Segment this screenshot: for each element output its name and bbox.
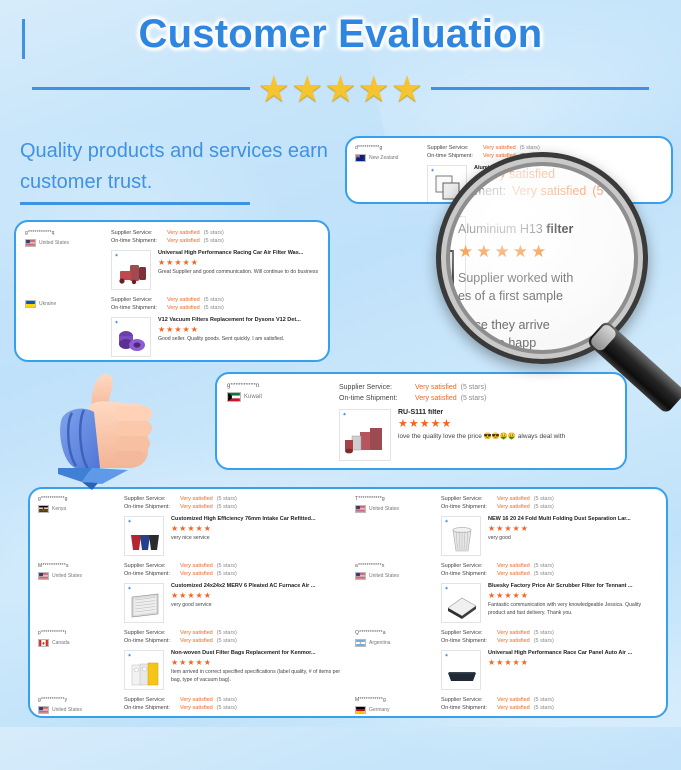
product-rating-stars: ★★★★★ (171, 658, 341, 667)
review-column-right: T***********g United States Supplier Se (355, 495, 658, 710)
review-item: M***********g Germany Supplier Service: … (355, 696, 658, 718)
metric-stars: (5 stars) (461, 393, 487, 404)
product-thumbnail[interactable]: ◉ (124, 717, 164, 718)
buyer-info: M***********s United States (38, 562, 124, 580)
metric-label: On-time Shipment: (111, 304, 163, 312)
product-block: ◉ RU-S111 filter ★★★★★ love the quality … (339, 409, 615, 461)
country-name: Germany (369, 707, 390, 713)
metric-supplier-service: Supplier Service: Very satisfied (5 star… (441, 495, 658, 503)
product-title[interactable]: NEW 16 20 24 Fold Multi Folding Dust Sep… (488, 516, 658, 522)
brand-logo-icon: ◉ (431, 168, 434, 172)
product-info: Customized 24x24x2 MERV 6 Pleated AC Fur… (171, 583, 341, 623)
brand-logo-icon: ◉ (115, 253, 118, 257)
brand-logo-icon: ◉ (445, 519, 448, 523)
product-rating-stars: ★★★★★ (171, 524, 341, 533)
product-thumbnail[interactable]: ◉ (111, 317, 151, 357)
review-body: Supplier Service: Very satisfied (5 star… (441, 495, 658, 556)
buyer-country: Argentina (355, 639, 441, 647)
country-name: Kenya (52, 506, 66, 512)
flag-icon (25, 300, 36, 308)
product-thumbnail[interactable]: ◉ (441, 650, 481, 690)
metric-label: Supplier Service: (111, 296, 163, 304)
country-name: Argentina (369, 640, 390, 646)
metric-label: Supplier Service: (124, 562, 176, 570)
metric-stars: (5 stars) (217, 562, 237, 570)
metric-value: Very satisfied (180, 637, 213, 645)
review-card-grid[interactable]: g***********g Kenya Supplier Service: Ve… (28, 487, 668, 718)
metric-stars: (5 stars) (217, 503, 237, 511)
review-grid: g***********g Kenya Supplier Service: Ve… (38, 495, 658, 710)
buyer-country: United States (38, 572, 124, 580)
country-name: United States (52, 707, 82, 713)
metric-stars: (5 stars) (204, 229, 224, 237)
review-item: M***********s United States Supplier Se (38, 562, 341, 623)
review-comment: very nice service (171, 535, 341, 543)
metric-stars: (5 stars) (520, 144, 540, 152)
country-name: Kuwait (244, 394, 262, 400)
buyer-country: New Zealand (355, 154, 427, 162)
review-column-left: g***********g Kenya Supplier Service: Ve… (38, 495, 341, 710)
metric-label: Supplier Service: (427, 144, 479, 152)
metric-stars: (5 stars) (534, 637, 554, 645)
metric-label: On-time Shipment: (124, 503, 176, 511)
metric-label: Supplier Service: (111, 229, 163, 237)
product-title[interactable]: V12 Vacuum Filters Replacement for Dyson… (158, 317, 319, 323)
product-info: NEW 16 20 24 Fold Multi Folding Dust Sep… (488, 516, 658, 556)
buyer-id: g***********g (38, 496, 124, 502)
metric-stars: (5 stars) (217, 637, 237, 645)
buyer-country: Canada (38, 639, 124, 647)
product-thumbnail[interactable]: ◉ (124, 583, 164, 623)
product-block: ◉ NEW 16 20 24 Fold Multi Folding Dust S… (441, 516, 658, 556)
metric-value: Very satisfied (180, 562, 213, 570)
product-title[interactable]: Universal High Performance Race Car Pane… (488, 650, 658, 656)
brand-logo-icon: ◉ (445, 586, 448, 590)
metric-value: Very satisfied (497, 495, 530, 503)
review-body: Supplier Service: Very satisfied (5 star… (441, 696, 658, 718)
review-item: Ukraine Supplier Service: Very satisfied… (25, 296, 319, 357)
country-name: Canada (52, 640, 70, 646)
buyer-id: p***********t (38, 630, 124, 636)
brand-logo-icon: ◉ (128, 653, 131, 657)
review-body: Supplier Service: Very satisfied (5 star… (441, 629, 658, 690)
country-name: Ukraine (39, 301, 56, 307)
product-info: Replacement Exhaust Filters for Windsor … (171, 717, 341, 718)
buyer-country: Germany (355, 706, 441, 714)
flag-icon (38, 505, 49, 513)
brand-logo-icon: ◉ (128, 519, 131, 523)
country-name: United States (369, 573, 399, 579)
metric-on-time-shipment: On-time Shipment: Very satisfied (5 star… (339, 393, 615, 404)
header-stars: ★ ★ ★ ★ ★ (250, 71, 431, 107)
metric-stars: (5 stars) (217, 495, 237, 503)
metric-stars: (5 stars) (534, 495, 554, 503)
review-item: g***********g Kenya Supplier Service: Ve… (38, 495, 341, 556)
product-rating-stars: ★★★★★ (398, 418, 615, 430)
review-item: g***********y United States Supplier Se (38, 696, 341, 718)
buyer-info: p***********t Canada (38, 629, 124, 647)
metric-stars: (5 stars) (217, 570, 237, 578)
flag-icon (38, 639, 49, 647)
review-item: g***********q United States Supplier Ser… (25, 229, 319, 290)
star-icon: ★ (324, 71, 356, 107)
metric-stars: (5 stars) (534, 503, 554, 511)
metric-stars: (5 stars) (204, 237, 224, 245)
product-thumbnail[interactable]: ◉ (339, 409, 391, 461)
metric-on-time-shipment: On-time Shipment: Very satisfied (5 star… (124, 570, 341, 578)
buyer-country: United States (25, 239, 111, 247)
metric-supplier-service: Supplier Service: Very satisfied (5 star… (124, 696, 341, 704)
metric-value: Very satisfied (167, 229, 200, 237)
thumbs-up-icon (52, 366, 188, 486)
buyer-country: United States (38, 706, 124, 714)
country-name: United States (369, 506, 399, 512)
product-title[interactable]: Customized 24x24x2 MERV 6 Pleated AC Fur… (171, 583, 341, 589)
flag-icon (355, 706, 366, 714)
country-name: United States (52, 573, 82, 579)
buyer-id: T***********g (355, 496, 441, 502)
tagline-underline (20, 202, 250, 205)
metric-label: On-time Shipment: (427, 152, 479, 160)
product-thumbnail[interactable]: ◉ (441, 717, 481, 718)
review-comment: very good (488, 535, 658, 543)
metric-stars: (5 stars) (204, 296, 224, 304)
country-name: United States (39, 240, 69, 246)
metric-label: Supplier Service: (441, 562, 493, 570)
review-body: Supplier Service: Very satisfied (5 star… (124, 562, 341, 623)
metric-supplier-service: Supplier Service: Very satisfied (5 star… (124, 629, 341, 637)
filter-set-icon (340, 410, 391, 461)
buyer-id: g***********y (38, 697, 124, 703)
buyer-info: Ukraine (25, 296, 111, 308)
review-item: Q***********a Argentina Supplier Service… (355, 629, 658, 690)
flag-icon (355, 505, 366, 513)
metric-stars: (5 stars) (534, 629, 554, 637)
product-block: ◉ Universal High Performance Race Car Pa… (441, 650, 658, 690)
metric-value: Very satisfied (167, 296, 200, 304)
product-info: Non-woven Dust Filter Bags Replacement f… (171, 650, 341, 690)
metric-on-time-shipment: On-time Shipment: Very satisfied (5 star… (441, 503, 658, 511)
metric-on-time-shipment: On-time Shipment: Very satisfied (5 star… (441, 637, 658, 645)
flag-icon (355, 639, 366, 647)
review-body: Supplier Service: Very satisfied (5 star… (124, 495, 341, 556)
page-header: Customer Evaluation ★ ★ ★ ★ ★ (0, 0, 681, 122)
brand-logo-icon: ◉ (115, 320, 118, 324)
metric-stars: (5 stars) (534, 704, 554, 712)
product-info: Universal High Performance Race Car Pane… (488, 650, 658, 690)
metric-on-time-shipment: On-time Shipment: Very satisfied (5 star… (441, 704, 658, 712)
product-info: Universal High Performance Racing Car Ai… (158, 250, 319, 290)
metric-label: On-time Shipment: (441, 570, 493, 578)
buyer-country: Kenya (38, 505, 124, 513)
review-comment: love the quality love the price 😎😎🤑🤑 alw… (398, 432, 615, 441)
metric-on-time-shipment: On-time Shipment: Very satisfied (5 star… (111, 237, 319, 245)
buyer-id: g***********q (25, 230, 111, 236)
metric-label: Supplier Service: (124, 629, 176, 637)
buyer-info: M***********g Germany (355, 696, 441, 714)
product-block: ◉ Replacement Exhaust Filters for Windso… (124, 717, 341, 718)
buyer-info: g***********g Kenya (38, 495, 124, 513)
brand-logo-icon: ◉ (445, 653, 448, 657)
metric-value: Very satisfied (497, 704, 530, 712)
review-item: g**********n Kuwait Supplier Service: Ve… (227, 382, 615, 461)
review-comment: Fantastic communication with very knowle… (488, 602, 658, 617)
metric-label: On-time Shipment: (124, 704, 176, 712)
product-block: ◉ Washable V11 Filter Replac (441, 717, 658, 718)
divider-line-right (431, 87, 649, 90)
metric-supplier-service: Supplier Service: Very satisfied (5 star… (339, 382, 615, 393)
metric-supplier-service: Supplier Service: Very satisfied (5 star… (441, 562, 658, 570)
review-body: Supplier Service: Very satisfied (5 star… (111, 229, 319, 290)
metric-value: Very satisfied (497, 570, 530, 578)
metric-stars: (5 stars) (217, 704, 237, 712)
review-item: a***********n United States Supplier Se (355, 562, 658, 623)
metric-on-time-shipment: On-time Shipment: Very satisfied (5 star… (124, 503, 341, 511)
country-name: New Zealand (369, 155, 398, 161)
metric-label: On-time Shipment: (124, 570, 176, 578)
product-thumbnail[interactable]: ◉ (441, 516, 481, 556)
star-icon: ★ (258, 71, 290, 107)
metric-supplier-service: Supplier Service: Very satisfied (5 star… (427, 144, 663, 152)
product-title[interactable]: Washable V11 Filter Replacement for Dyso… (488, 717, 658, 718)
buyer-info: g***********y United States (38, 696, 124, 714)
metric-stars: (5 stars) (534, 562, 554, 570)
review-body: Supplier Service: Very satisfied (5 star… (124, 696, 341, 718)
metric-value: Very satisfied (497, 629, 530, 637)
metric-stars: (5 stars) (204, 304, 224, 312)
product-thumbnail[interactable]: ◉ (124, 650, 164, 690)
product-block: ◉ Customized 24x24x2 MERV 6 Pleated AC F… (124, 583, 341, 623)
metric-value: Very satisfied (180, 495, 213, 503)
buyer-country: United States (355, 505, 441, 513)
metric-value: Very satisfied (180, 629, 213, 637)
buyer-country: Kuwait (227, 392, 339, 402)
metric-stars: (5 stars) (461, 382, 487, 393)
product-rating-stars: ★★★★★ (158, 258, 319, 267)
metric-value: Very satisfied (483, 144, 516, 152)
metric-value: Very satisfied (415, 393, 457, 404)
flag-icon (227, 392, 241, 402)
review-card-kuwait[interactable]: g**********n Kuwait Supplier Service: Ve… (215, 372, 627, 470)
review-body: Supplier Service: Very satisfied (5 star… (441, 562, 658, 623)
metric-on-time-shipment: On-time Shipment: Very satisfied (5 star… (124, 704, 341, 712)
review-body: Supplier Service: Very satisfied (5 star… (124, 629, 341, 690)
metric-label: Supplier Service: (124, 495, 176, 503)
metric-value: Very satisfied (497, 503, 530, 511)
metric-on-time-shipment: On-time Shipment: Very satisfied (5 star… (111, 304, 319, 312)
flag-icon (38, 706, 49, 714)
metric-label: On-time Shipment: (441, 637, 493, 645)
buyer-id: M***********g (355, 697, 441, 703)
product-rating-stars: ★★★★★ (488, 591, 658, 600)
product-rating-stars: ★★★★★ (158, 325, 319, 334)
product-block: ◉ V12 Vacuum Filters Replacement for Dys… (111, 317, 319, 357)
product-info: V12 Vacuum Filters Replacement for Dyson… (158, 317, 319, 357)
metric-supplier-service: Supplier Service: Very satisfied (5 star… (111, 296, 319, 304)
metric-supplier-service: Supplier Service: Very satisfied (5 star… (111, 229, 319, 237)
review-body: Supplier Service: Very satisfied (5 star… (111, 296, 319, 357)
product-block: ◉ Customized High Efficiency 76mm Intake… (124, 516, 341, 556)
metric-on-time-shipment: On-time Shipment: Very satisfied (5 star… (124, 637, 341, 645)
metric-supplier-service: Supplier Service: Very satisfied (5 star… (441, 629, 658, 637)
brand-logo-icon: ◉ (343, 412, 346, 416)
header-star-divider: ★ ★ ★ ★ ★ (0, 70, 681, 106)
brand-logo-icon: ◉ (128, 586, 131, 590)
star-icon: ★ (391, 71, 423, 107)
buyer-id: M***********s (38, 563, 124, 569)
product-info: RU-S111 filter ★★★★★ love the quality lo… (398, 409, 615, 461)
metric-stars: (5 stars) (217, 696, 237, 704)
metric-label: On-time Shipment: (441, 704, 493, 712)
tagline: Quality products and services earn custo… (20, 136, 340, 198)
metric-label: On-time Shipment: (124, 637, 176, 645)
metric-value: Very satisfied (180, 570, 213, 578)
buyer-info: Q***********a Argentina (355, 629, 441, 647)
product-block: ◉ Universal High Performance Racing Car … (111, 250, 319, 290)
metric-stars: (5 stars) (534, 570, 554, 578)
metric-label: On-time Shipment: (111, 237, 163, 245)
metric-label: On-time Shipment: (339, 393, 411, 404)
page-title: Customer Evaluation (0, 12, 681, 57)
metric-value: Very satisfied (167, 237, 200, 245)
buyer-id: Q***********a (355, 630, 441, 636)
metric-label: Supplier Service: (441, 629, 493, 637)
metric-label: Supplier Service: (124, 696, 176, 704)
product-title[interactable]: RU-S111 filter (398, 409, 615, 416)
product-thumbnail[interactable]: ◉ (441, 583, 481, 623)
divider-line-left (32, 87, 250, 90)
metric-supplier-service: Supplier Service: Very satisfied (5 star… (124, 495, 341, 503)
metric-label: Supplier Service: (339, 382, 411, 393)
review-comment: Item arrived in correct specified specif… (171, 669, 341, 684)
metric-label: On-time Shipment: (441, 503, 493, 511)
product-rating-stars: ★★★★★ (488, 524, 658, 533)
metric-stars: (5 stars) (217, 629, 237, 637)
buyer-id: g**********n (227, 383, 339, 389)
review-body: Supplier Service: Very satisfied (5 star… (339, 382, 615, 461)
buyer-info: g***********q United States (25, 229, 111, 247)
metric-supplier-service: Supplier Service: Very satisfied (5 star… (124, 562, 341, 570)
metric-value: Very satisfied (180, 696, 213, 704)
product-rating-stars: ★★★★★ (171, 591, 341, 600)
metric-value: Very satisfied (415, 382, 457, 393)
buyer-info: g**********n Kuwait (227, 382, 339, 402)
product-info: Washable V11 Filter Replacement for Dyso… (488, 717, 658, 718)
buyer-info: T***********g United States (355, 495, 441, 513)
buyer-id: a***********n (355, 563, 441, 569)
metric-value: Very satisfied (497, 637, 530, 645)
star-icon: ★ (291, 71, 323, 107)
star-icon: ★ (358, 71, 390, 107)
review-item: T***********g United States Supplier Se (355, 495, 658, 556)
metric-value: Very satisfied (497, 562, 530, 570)
review-comment: very good service (171, 602, 341, 610)
product-title[interactable]: Universal High Performance Racing Car Ai… (158, 250, 319, 256)
metric-label: Supplier Service: (441, 696, 493, 704)
metric-value: Very satisfied (497, 696, 530, 704)
product-info: Bluesky Factory Price Air Scrubber Filte… (488, 583, 658, 623)
metric-on-time-shipment: On-time Shipment: Very satisfied (5 star… (441, 570, 658, 578)
buyer-info: d**********g New Zealand (355, 144, 427, 162)
flag-icon (355, 154, 366, 162)
metric-stars: (5 stars) (534, 696, 554, 704)
product-title[interactable]: Non-woven Dust Filter Bags Replacement f… (171, 650, 341, 656)
buyer-info: a***********n United States (355, 562, 441, 580)
review-item: p***********t Canada Supplier Service: V… (38, 629, 341, 690)
metric-value: Very satisfied (180, 704, 213, 712)
flag-icon (355, 572, 366, 580)
buyer-country: United States (355, 572, 441, 580)
metric-value: Very satisfied (180, 503, 213, 511)
buyer-country: Ukraine (25, 300, 111, 308)
product-block: ◉ Non-woven Dust Filter Bags Replacement… (124, 650, 341, 690)
flag-icon (25, 239, 36, 247)
review-comment: Good seller. Quality goods. Sent quickly… (158, 336, 319, 344)
product-thumbnail[interactable]: ◉ (111, 250, 151, 290)
flag-icon (38, 572, 49, 580)
metric-value: Very satisfied (167, 304, 200, 312)
product-title[interactable]: Bluesky Factory Price Air Scrubber Filte… (488, 583, 658, 589)
product-title[interactable]: Customized High Efficiency 76mm Intake C… (171, 516, 341, 522)
metric-supplier-service: Supplier Service: Very satisfied (5 star… (441, 696, 658, 704)
buyer-id: d**********g (355, 145, 427, 151)
review-comment: Great Supplier and good communication. W… (158, 269, 319, 277)
review-card-left[interactable]: g***********q United States Supplier Ser… (14, 220, 330, 362)
product-info: Customized High Efficiency 76mm Intake C… (171, 516, 341, 556)
product-block: ◉ Bluesky Factory Price Air Scrubber Fil… (441, 583, 658, 623)
metric-label: Supplier Service: (441, 495, 493, 503)
product-rating-stars: ★★★★★ (488, 658, 658, 667)
product-title[interactable]: Replacement Exhaust Filters for Windsor … (171, 717, 341, 718)
product-thumbnail[interactable]: ◉ (124, 516, 164, 556)
